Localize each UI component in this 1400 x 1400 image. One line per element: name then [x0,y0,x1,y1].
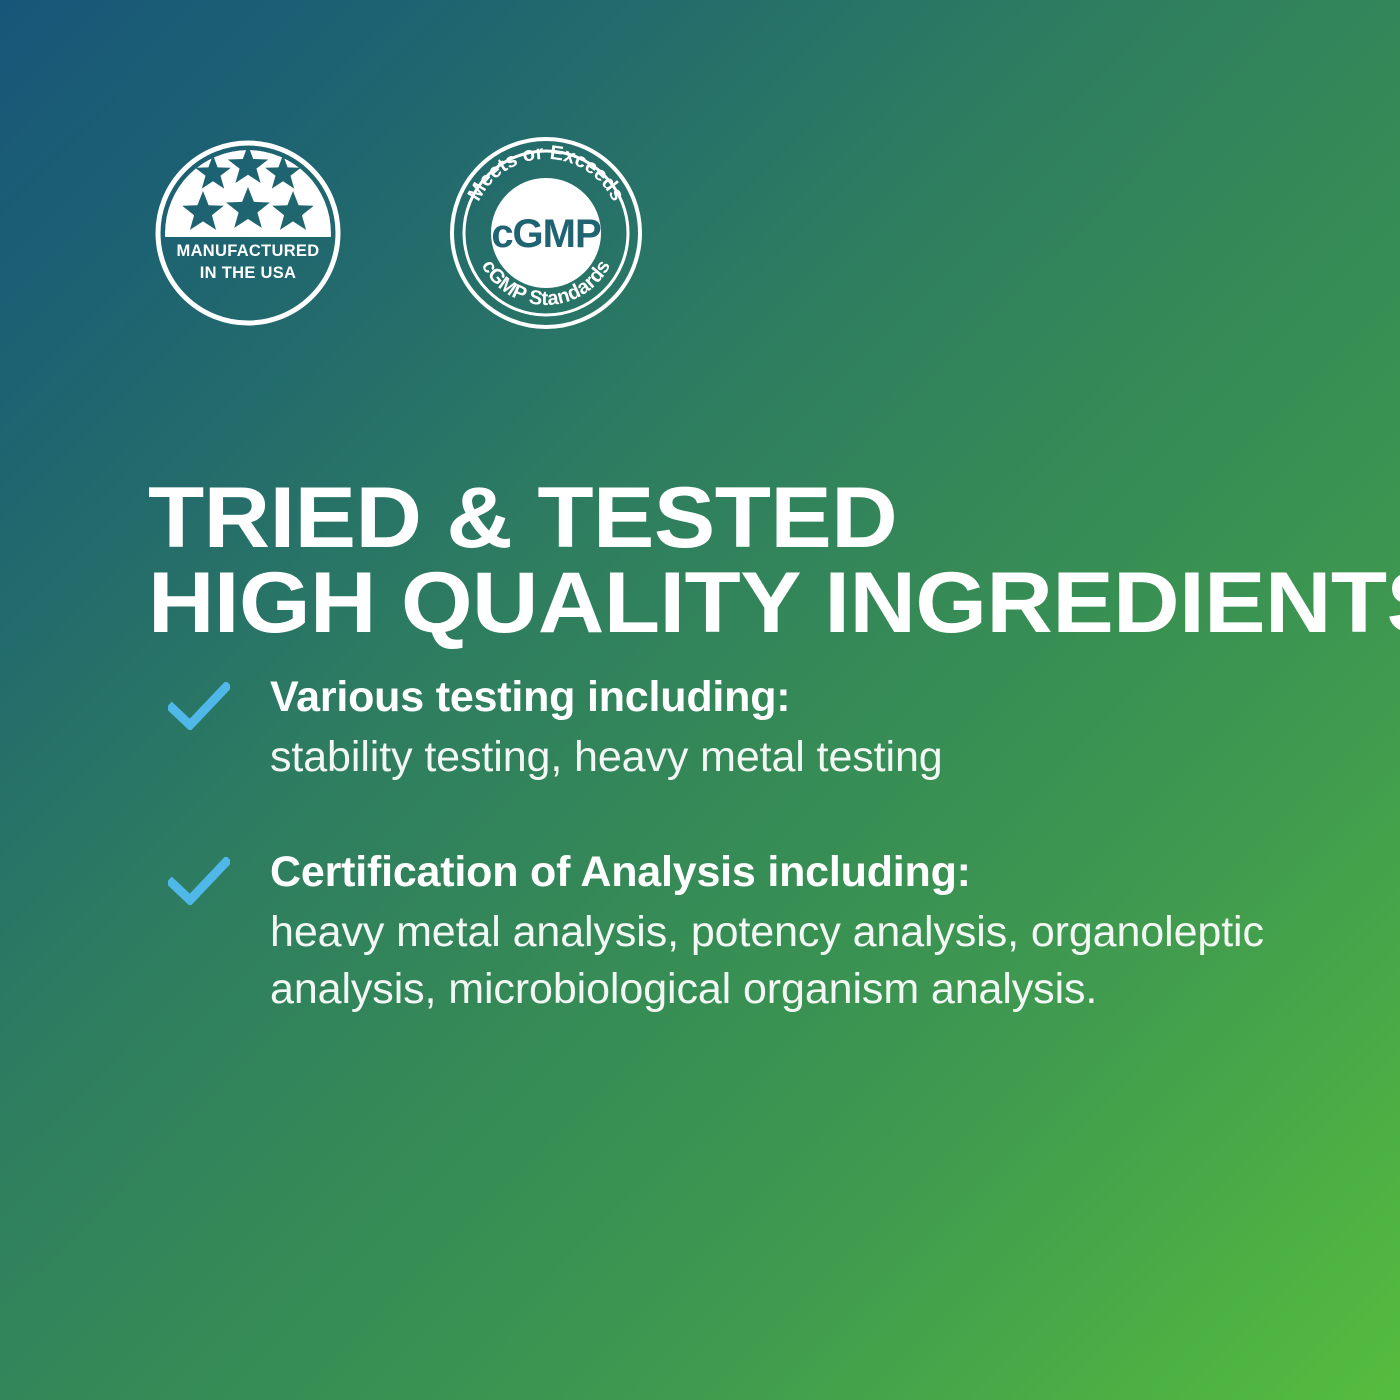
usa-shield-badge-icon: MANUFACTURED IN THE USA [148,133,348,333]
certification-badge-row: MANUFACTURED IN THE USA Meets or Exceeds [148,133,646,338]
list-item-body: heavy metal analysis, potency analysis, … [270,904,1270,1018]
cgmp-center-text: cGMP [491,212,601,256]
list-item-title: Certification of Analysis including: [270,847,1328,898]
headline-line-2: HIGH QUALITY INGREDIENTS [148,561,1400,646]
list-item-body: stability testing, heavy metal testing [270,729,1270,786]
feature-list: Various testing including: stability tes… [148,672,1328,1018]
list-item: Various testing including: stability tes… [148,672,1328,785]
cgmp-seal-icon: Meets or Exceeds cGMP Standards cGMP [446,133,646,333]
page-title: TRIED & TESTED HIGH QUALITY INGREDIENTS [148,476,1400,646]
list-item-title: Various testing including: [270,672,1328,723]
check-icon [168,682,230,730]
list-item: Certification of Analysis including: hea… [148,847,1328,1017]
headline-line-1: TRIED & TESTED [148,476,1400,561]
usa-badge-line1: MANUFACTURED [177,242,320,260]
usa-badge-line2: IN THE USA [200,264,297,282]
made-in-usa-badge: MANUFACTURED IN THE USA [148,133,348,338]
promo-poster: MANUFACTURED IN THE USA Meets or Exceeds [0,0,1400,1400]
check-icon [168,857,230,905]
cgmp-badge: Meets or Exceeds cGMP Standards cGMP [446,133,646,338]
